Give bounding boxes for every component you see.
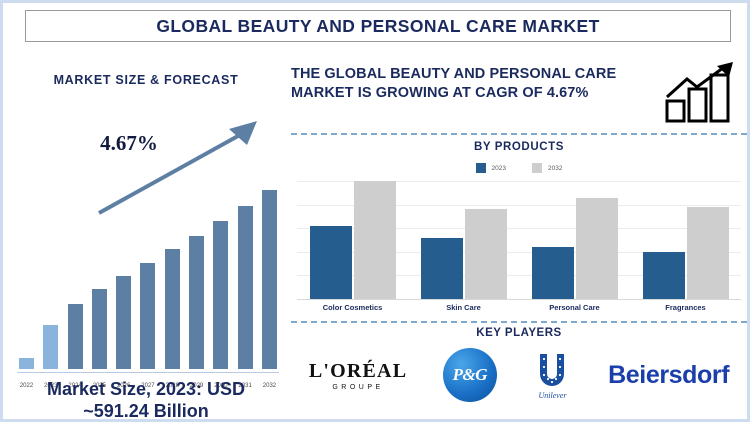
legend-item-2032: 2032 bbox=[532, 163, 562, 173]
legend-item-2023: 2023 bbox=[476, 163, 506, 173]
category-label: Fragrances bbox=[640, 303, 732, 312]
by-products-legend: 2023 2032 bbox=[291, 163, 747, 173]
by-products-chart bbox=[297, 181, 741, 299]
bar-group-personal-care bbox=[529, 181, 621, 299]
forecast-bar-col bbox=[138, 179, 157, 369]
forecast-bar-col bbox=[211, 179, 230, 369]
bar-chart-growth-icon bbox=[665, 61, 743, 123]
divider-top bbox=[291, 133, 747, 135]
market-size-forecast-heading: MARKET SIZE & FORECAST bbox=[9, 73, 283, 87]
category-label: Color Cosmetics bbox=[307, 303, 399, 312]
right-panel: THE GLOBAL BEAUTY AND PERSONAL CARE MARK… bbox=[291, 51, 747, 419]
bar-2023 bbox=[310, 226, 352, 299]
divider-bottom bbox=[291, 321, 747, 323]
infographic-page: GLOBAL BEAUTY AND PERSONAL CARE MARKET M… bbox=[0, 0, 750, 422]
legend-label-2032: 2032 bbox=[548, 165, 562, 172]
forecast-bar-col bbox=[41, 179, 60, 369]
bar-2023 bbox=[421, 238, 463, 299]
bar-2032 bbox=[687, 207, 729, 299]
legend-swatch-2032 bbox=[532, 163, 542, 173]
key-players-logos: L'ORÉAL GROUPE P&G bbox=[291, 343, 747, 407]
pg-logo-name: P&G bbox=[453, 365, 487, 385]
forecast-bar-col bbox=[236, 179, 255, 369]
by-products-category-labels: Color Cosmetics Skin Care Personal Care … bbox=[297, 303, 741, 312]
loreal-logo: L'ORÉAL GROUPE bbox=[309, 360, 407, 391]
unilever-logo-name: Unilever bbox=[538, 391, 566, 400]
chart-bar-groups bbox=[297, 181, 741, 299]
bar-2032 bbox=[576, 198, 618, 299]
forecast-bar-col bbox=[260, 179, 279, 369]
legend-swatch-2023 bbox=[476, 163, 486, 173]
by-products-heading: BY PRODUCTS bbox=[291, 141, 747, 153]
key-players-heading: KEY PLAYERS bbox=[291, 327, 747, 339]
forecast-axis-line bbox=[17, 372, 279, 373]
page-title-box: GLOBAL BEAUTY AND PERSONAL CARE MARKET bbox=[25, 10, 731, 42]
market-size-line-1: Market Size, 2023: USD bbox=[9, 379, 283, 401]
bar-2023 bbox=[643, 252, 685, 299]
bar-2032 bbox=[465, 209, 507, 299]
pg-logo: P&G bbox=[443, 348, 497, 402]
page-title: GLOBAL BEAUTY AND PERSONAL CARE MARKET bbox=[156, 16, 599, 37]
forecast-bar-col bbox=[66, 179, 85, 369]
forecast-bar-col bbox=[90, 179, 109, 369]
forecast-bar-col bbox=[17, 179, 36, 369]
loreal-logo-sub: GROUPE bbox=[332, 384, 383, 391]
legend-label-2023: 2023 bbox=[492, 165, 506, 172]
bar-2023 bbox=[532, 247, 574, 299]
bar-group-fragrances bbox=[640, 181, 732, 299]
market-size-forecast-panel: MARKET SIZE & FORECAST 4.67% 2022 2023 2… bbox=[9, 51, 283, 417]
bar-group-color-cosmetics bbox=[307, 181, 399, 299]
unilever-u-icon bbox=[532, 351, 572, 393]
unilever-logo: Unilever bbox=[532, 351, 572, 400]
market-size-callout: Market Size, 2023: USD ~591.24 Billion bbox=[9, 379, 283, 422]
forecast-bars bbox=[17, 179, 279, 369]
forecast-bar-col bbox=[114, 179, 133, 369]
forecast-bar-col bbox=[163, 179, 182, 369]
bar-group-skin-care bbox=[418, 181, 510, 299]
bar-2032 bbox=[354, 181, 396, 299]
category-label: Skin Care bbox=[418, 303, 510, 312]
market-size-line-2: ~591.24 Billion bbox=[9, 401, 283, 422]
chart-baseline bbox=[297, 299, 741, 300]
forecast-bar-col bbox=[187, 179, 206, 369]
cagr-headline: THE GLOBAL BEAUTY AND PERSONAL CARE MARK… bbox=[291, 65, 643, 103]
loreal-logo-name: L'ORÉAL bbox=[309, 360, 407, 383]
beiersdorf-logo: Beiersdorf bbox=[608, 361, 729, 390]
category-label: Personal Care bbox=[529, 303, 621, 312]
